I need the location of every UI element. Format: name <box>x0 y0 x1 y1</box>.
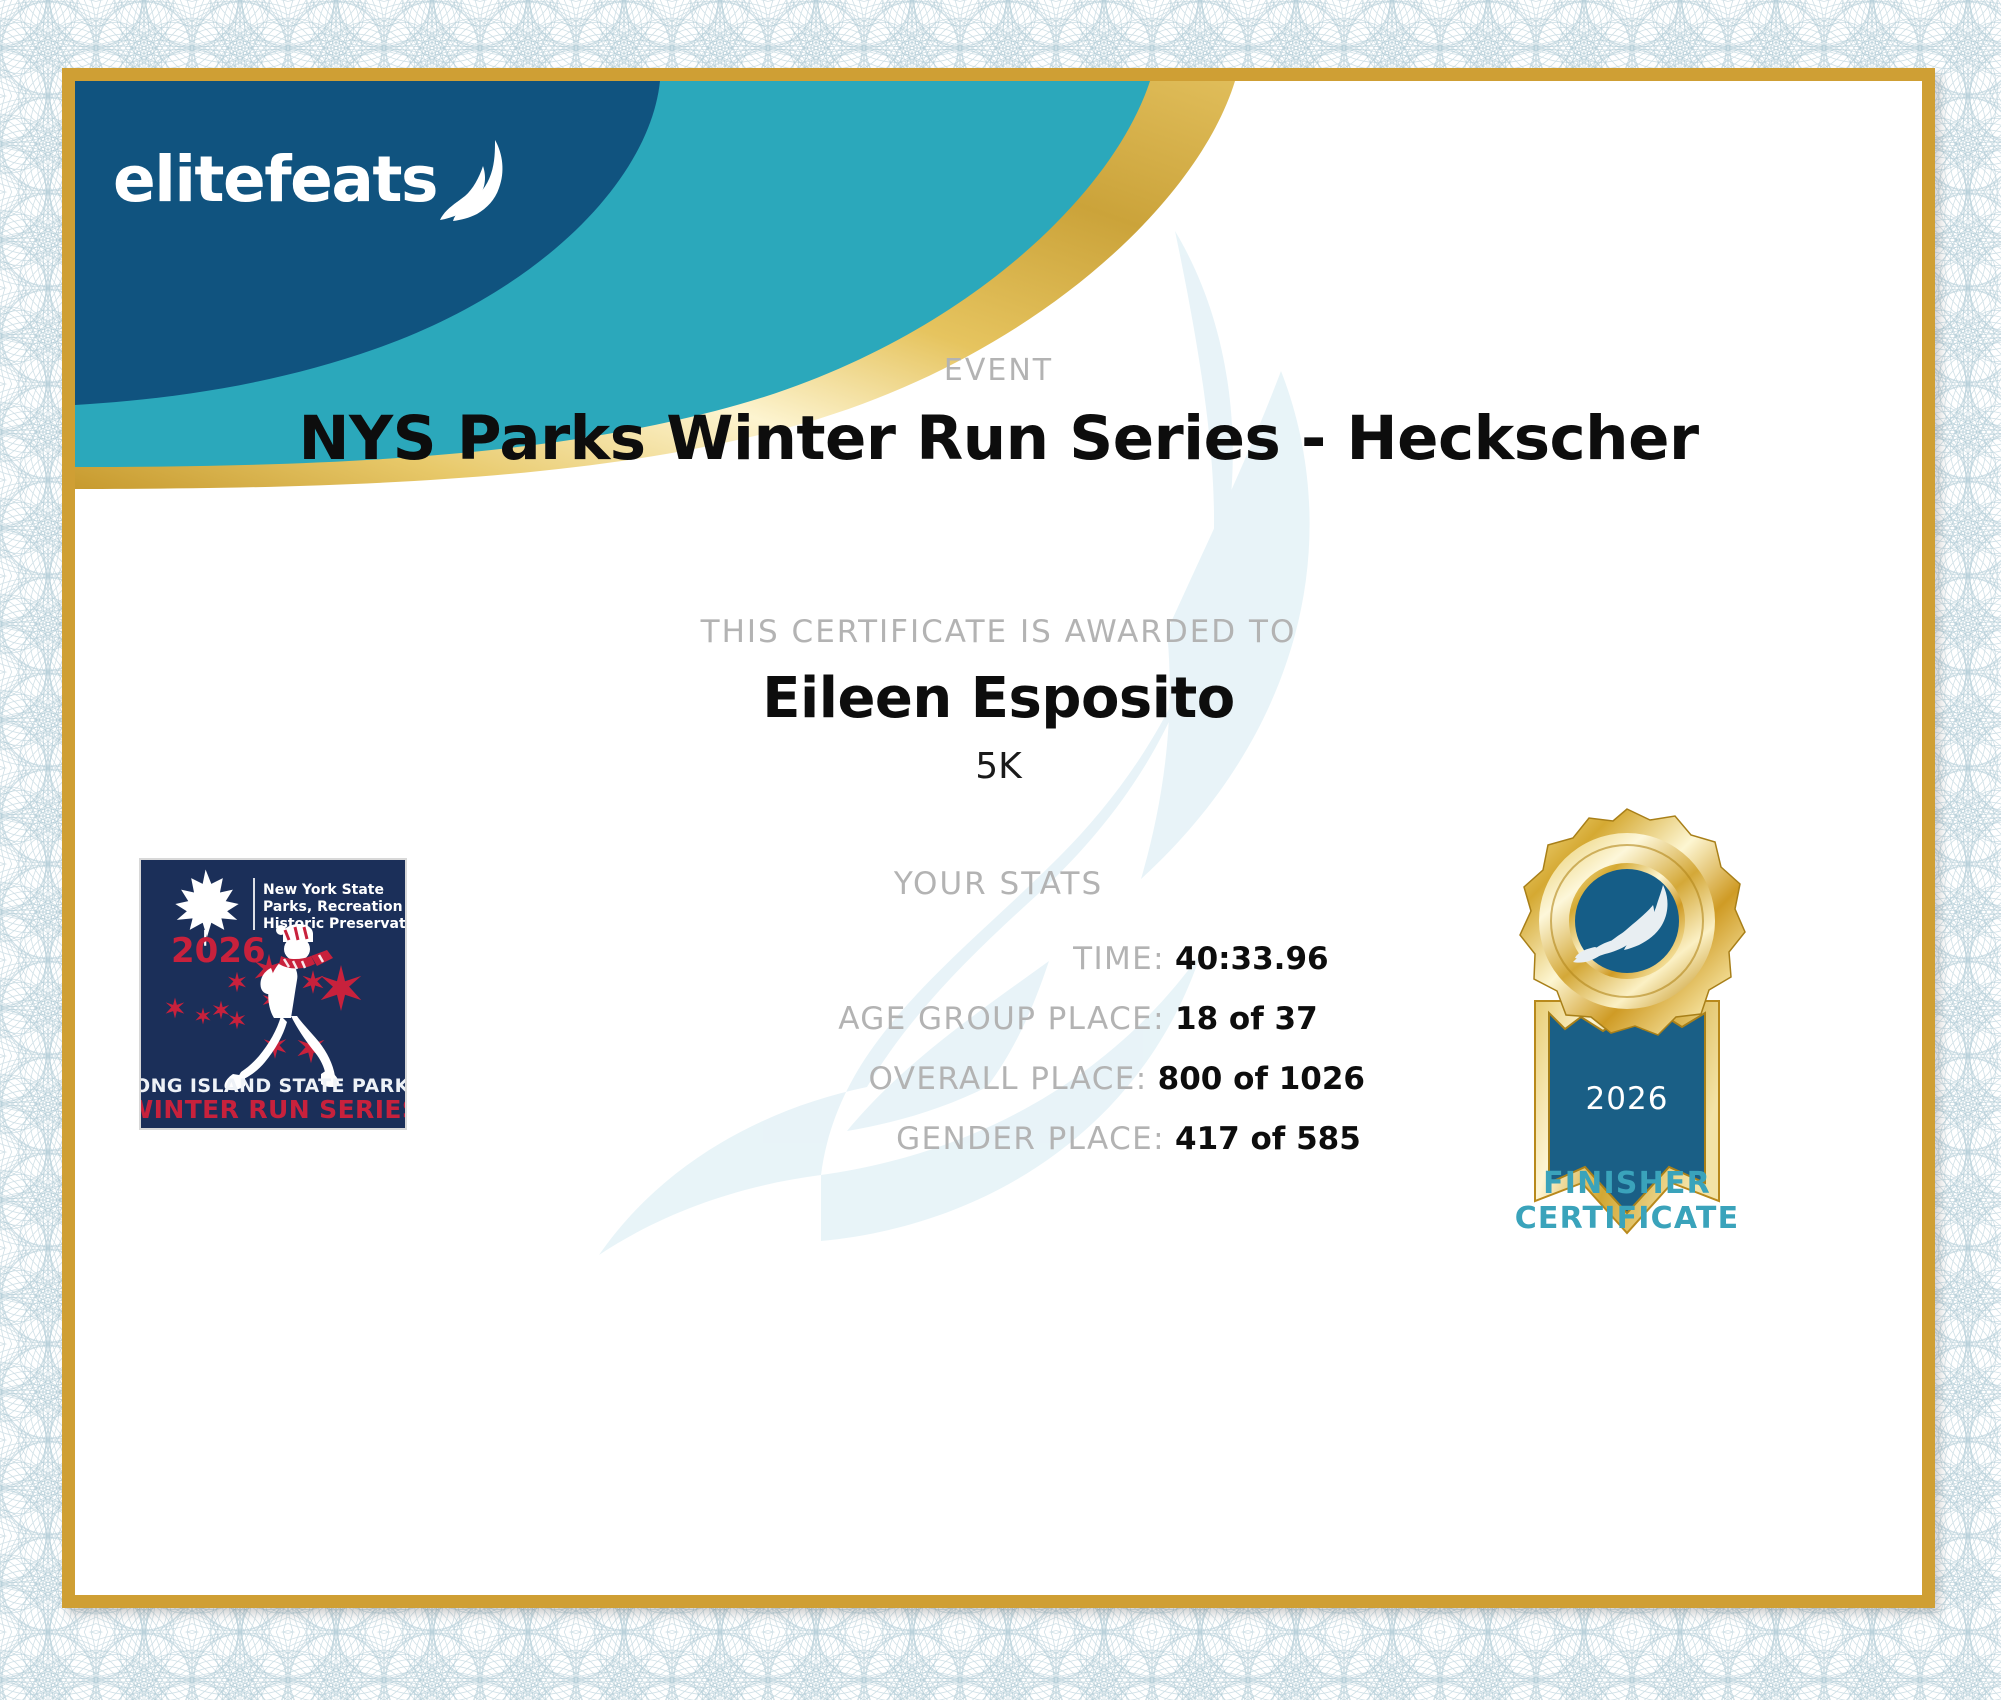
brand-wordmark: elitefeats <box>113 148 437 211</box>
stat-row-time: TIME: 40:33.96 <box>405 941 1365 977</box>
certificate-card: elitefeats EVENT NYS Parks Winter Run Se… <box>62 68 1935 1608</box>
stat-row-overall-place: OVERALL PLACE: 800 of 1026 <box>405 1061 1365 1097</box>
stats-list: TIME: 40:33.96 AGE GROUP PLACE: 18 of 37… <box>405 941 1365 1181</box>
certificate-inner: elitefeats EVENT NYS Parks Winter Run Se… <box>75 81 1922 1595</box>
series-line-2: WINTER RUN SERIES <box>141 1095 405 1124</box>
event-title: NYS Parks Winter Run Series - Heckscher <box>75 403 1922 474</box>
stat-key-time: TIME: <box>1073 941 1165 977</box>
stat-key-gender-place: GENDER PLACE: <box>896 1121 1165 1157</box>
stat-row-age-group-place: AGE GROUP PLACE: 18 of 37 <box>405 1001 1365 1037</box>
stat-value-gender-place: 417 of 585 <box>1175 1121 1365 1157</box>
stat-key-age-group-place: AGE GROUP PLACE: <box>838 1001 1165 1037</box>
awarded-to-label: THIS CERTIFICATE IS AWARDED TO <box>75 614 1922 650</box>
event-logo-badge: New York State Parks, Recreation and His… <box>139 858 407 1130</box>
stat-key-overall-place: OVERALL PLACE: <box>868 1061 1147 1097</box>
elitefeats-logo: elitefeats <box>113 136 517 222</box>
series-line-1: LONG ISLAND STATE PARKS <box>141 1075 405 1097</box>
stat-value-time: 40:33.96 <box>1175 941 1365 977</box>
stat-value-overall-place: 800 of 1026 <box>1158 1061 1365 1097</box>
logo-year: 2026 <box>171 931 266 971</box>
finisher-caption: FINISHER CERTIFICATE <box>1457 1166 1797 1237</box>
stat-row-gender-place: GENDER PLACE: 417 of 585 <box>405 1121 1365 1157</box>
certificate-content: EVENT NYS Parks Winter Run Series - Heck… <box>75 81 1922 1595</box>
recipient-name: Eileen Esposito <box>75 666 1922 731</box>
race-distance: 5K <box>75 746 1922 787</box>
finisher-caption-line-1: FINISHER <box>1457 1166 1797 1201</box>
agency-line-2: Parks, Recreation and <box>263 899 405 915</box>
event-label: EVENT <box>75 353 1922 388</box>
agency-line-1: New York State <box>263 882 384 898</box>
ribbon-year: 2026 <box>1586 1081 1669 1117</box>
finisher-caption-line-2: CERTIFICATE <box>1457 1201 1797 1236</box>
winged-foot-icon <box>439 136 517 222</box>
certificate-page: elitefeats EVENT NYS Parks Winter Run Se… <box>0 0 2001 1700</box>
stat-value-age-group-place: 18 of 37 <box>1175 1001 1365 1037</box>
